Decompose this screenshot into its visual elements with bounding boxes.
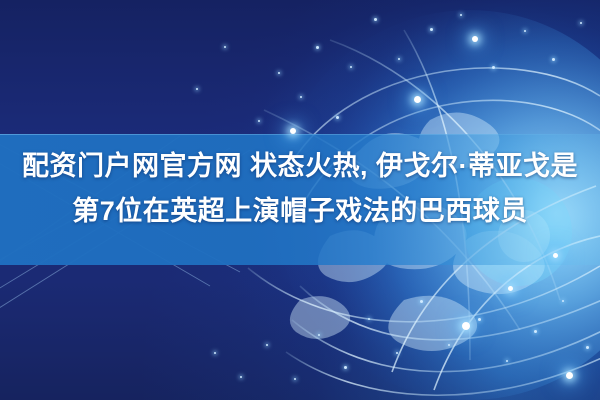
- particle-dot: [506, 360, 508, 362]
- network-node: [566, 372, 573, 379]
- particle-dot: [300, 96, 302, 98]
- network-node: [462, 322, 470, 330]
- particle-dot: [430, 28, 433, 31]
- particle-dot: [316, 46, 319, 49]
- particle-dot: [368, 318, 370, 320]
- particle-dot: [318, 334, 320, 336]
- particle-dot: [492, 66, 495, 69]
- particle-dot: [350, 66, 352, 68]
- particle-dot: [396, 352, 398, 354]
- particle-dot: [586, 346, 589, 349]
- particle-dot: [224, 46, 226, 48]
- headline-line-1: 配资门户网官方网 状态火热, 伊戈尔·蒂亚戈是: [0, 144, 600, 189]
- particle-dot: [398, 58, 400, 60]
- particle-dot: [420, 300, 423, 303]
- particle-dot: [478, 318, 481, 321]
- network-node: [290, 128, 296, 134]
- network-node: [472, 36, 478, 42]
- particle-dot: [240, 376, 242, 378]
- particle-dot: [562, 300, 564, 302]
- particle-dot: [336, 116, 339, 119]
- particle-dot: [552, 58, 555, 61]
- particle-dot: [580, 22, 582, 24]
- headline-text: 配资门户网官方网 状态火热, 伊戈尔·蒂亚戈是 第7位在英超上演帽子戏法的巴西球…: [0, 144, 600, 234]
- particle-dot: [344, 366, 347, 369]
- particle-dot: [294, 378, 296, 380]
- network-node: [553, 253, 558, 258]
- particle-dot: [196, 88, 198, 90]
- particle-dot: [534, 330, 537, 333]
- particle-dot: [266, 344, 268, 346]
- particle-dot: [460, 14, 462, 16]
- particle-dot: [374, 18, 377, 21]
- particle-dot: [524, 30, 526, 32]
- band-top-edge: [0, 134, 600, 135]
- network-node: [414, 96, 421, 103]
- network-node: [508, 286, 513, 291]
- particle-dot: [258, 120, 260, 122]
- particle-dot: [278, 72, 280, 74]
- particle-dot: [448, 344, 450, 346]
- particle-dot: [214, 352, 216, 354]
- headline-line-2: 第7位在英超上演帽子戏法的巴西球员: [0, 189, 600, 234]
- promo-banner: 配资门户网官方网 状态火热, 伊戈尔·蒂亚戈是 第7位在英超上演帽子戏法的巴西球…: [0, 0, 600, 400]
